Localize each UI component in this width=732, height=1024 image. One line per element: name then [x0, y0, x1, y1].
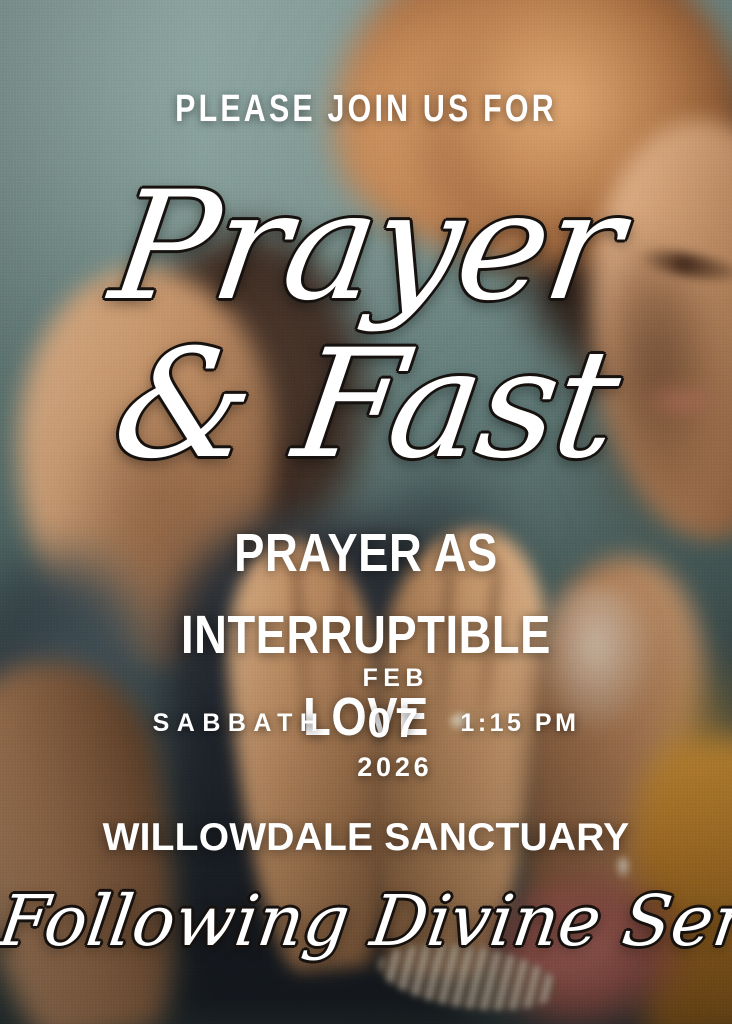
time-label: 1:15 PM	[460, 709, 579, 738]
day-number: 07	[363, 702, 422, 744]
title-script-prayer: Prayer	[0, 172, 732, 322]
venue-name: WILLOWDALE SANCTUARY	[0, 818, 732, 857]
subtitle-line-1: PRAYER AS INTERRUPTIBLE	[59, 512, 674, 676]
date-strip: SABBATH FEB 07 2026 1:15 PM	[0, 666, 732, 781]
date-stack: FEB 07 2026	[353, 666, 432, 781]
title-script-and-fast: & Fast	[0, 330, 732, 480]
month-label: FEB	[357, 666, 429, 691]
kicker-text: PLEASE JOIN US FOR	[73, 90, 659, 128]
footer-script-note: Following Divine Service	[0, 886, 732, 956]
poster-text-layer: PLEASE JOIN US FOR Prayer & Fast PRAYER …	[0, 0, 732, 1024]
event-poster: PLEASE JOIN US FOR Prayer & Fast PRAYER …	[0, 0, 732, 1024]
weekday-label: SABBATH	[153, 709, 326, 738]
year-number: 2026	[353, 754, 432, 781]
